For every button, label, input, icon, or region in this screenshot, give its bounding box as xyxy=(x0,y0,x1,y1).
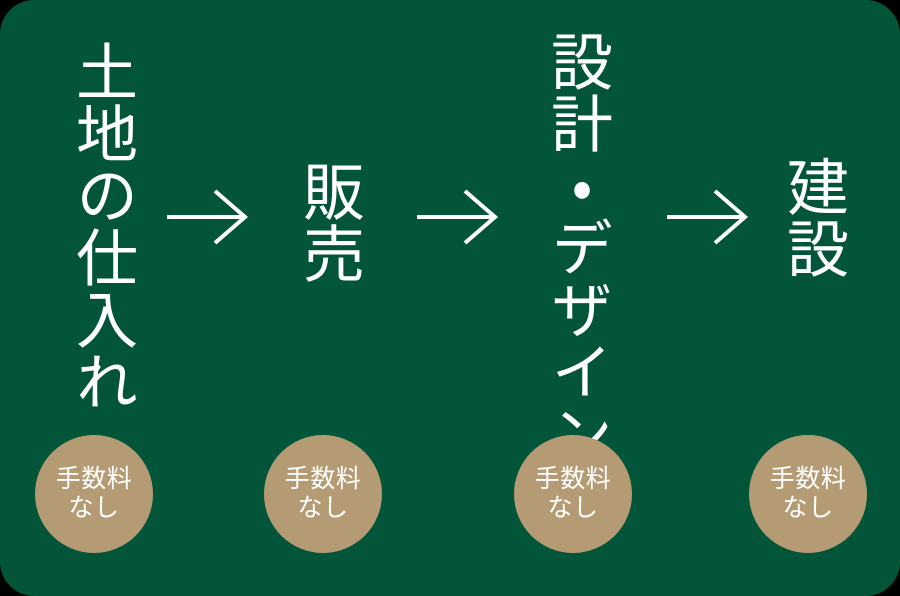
stage-sales: 販売 xyxy=(262,0,392,430)
stage-planning-design: 設計・デザイン xyxy=(510,0,640,430)
arrow-right-icon xyxy=(415,186,501,248)
stage-land-acquisition: 土地の仕入れ xyxy=(35,0,165,430)
stage-construction: 建設 xyxy=(746,0,876,430)
stage-label-construction: 建設 xyxy=(780,155,842,279)
badge-no-fee: 手数料 なし xyxy=(35,435,153,553)
arrow-right-icon xyxy=(665,186,751,248)
badge-no-fee: 手数料 なし xyxy=(264,435,382,553)
badge-no-fee: 手数料 なし xyxy=(749,435,867,553)
badge-line-2: なし xyxy=(297,494,348,523)
badge-line-1: 手数料 xyxy=(770,465,847,494)
stage-label-planning-design: 設計・デザイン xyxy=(544,30,606,464)
badge-line-1: 手数料 xyxy=(285,465,362,494)
badge-line-2: なし xyxy=(782,494,833,523)
stage-label-land-acquisition: 土地の仕入れ xyxy=(69,40,131,412)
process-flow-card: 土地の仕入れ 販売 設計・デザイン 建設 手数料 なし xyxy=(0,0,900,596)
badge-line-1: 手数料 xyxy=(535,465,612,494)
badge-no-fee: 手数料 なし xyxy=(514,435,632,553)
stage-label-sales: 販売 xyxy=(296,160,358,284)
badge-line-1: 手数料 xyxy=(56,465,133,494)
badge-line-2: なし xyxy=(68,494,119,523)
badge-line-2: なし xyxy=(547,494,598,523)
arrow-right-icon xyxy=(165,186,251,248)
